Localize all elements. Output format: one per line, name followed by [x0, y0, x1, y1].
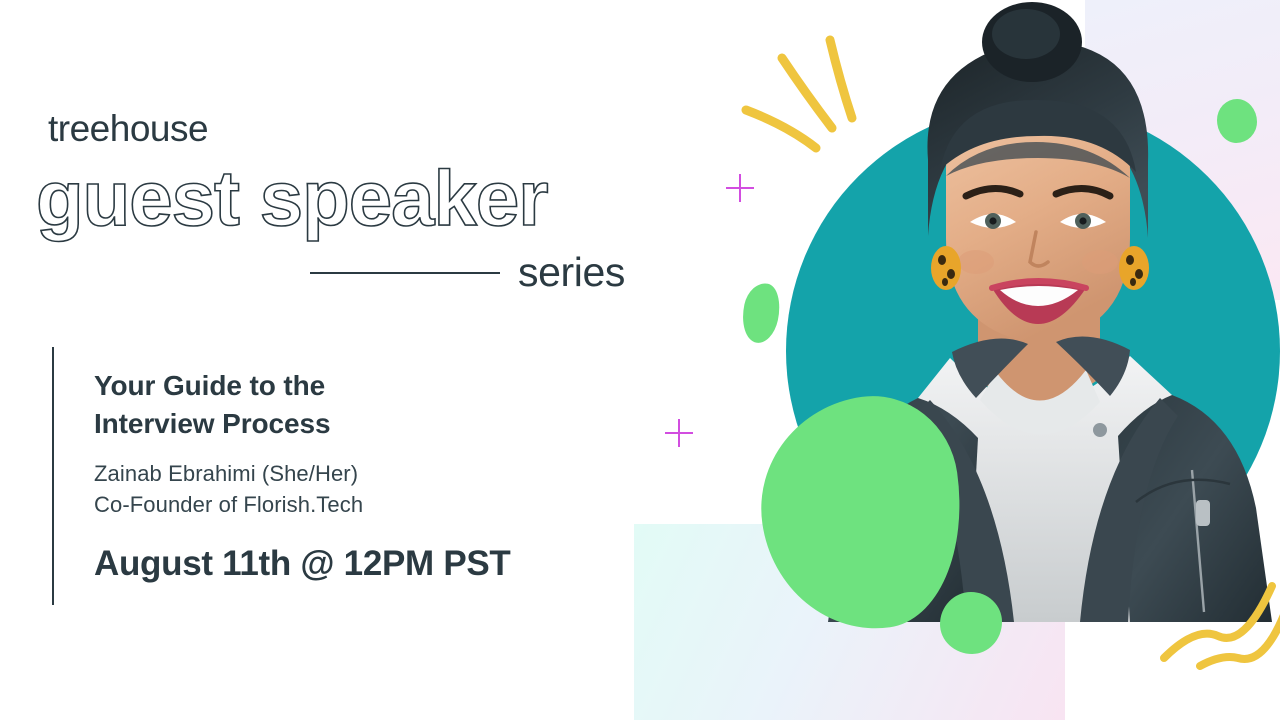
event-datetime: August 11th @ 12PM PST	[94, 545, 511, 584]
event-detail-block: Your Guide to the Interview Process Zain…	[52, 347, 511, 605]
green-blob-small-shape	[737, 280, 785, 346]
series-divider-rule	[310, 272, 500, 274]
series-label: series	[518, 252, 625, 293]
brand-wordmark: treehouse	[48, 108, 208, 150]
yellow-burst-strokes-icon	[740, 30, 900, 190]
series-row: series	[310, 252, 625, 293]
text-column: treehouse guest speaker series Your Guid…	[0, 0, 660, 720]
yellow-swoosh-strokes-icon	[1160, 570, 1280, 680]
slide-canvas: treehouse guest speaker series Your Guid…	[0, 0, 1280, 720]
green-dot-top-shape	[1217, 99, 1257, 143]
headline-outline-text: guest speaker	[36, 158, 548, 240]
speaker-name: Zainab Ebrahimi (She/Her)	[94, 458, 511, 489]
green-dot-bottom-shape	[940, 592, 1002, 654]
speaker-role: Co-Founder of Florish.Tech	[94, 489, 511, 520]
talk-title: Your Guide to the Interview Process	[94, 367, 511, 442]
plus-mark-icon-lower	[665, 419, 693, 447]
